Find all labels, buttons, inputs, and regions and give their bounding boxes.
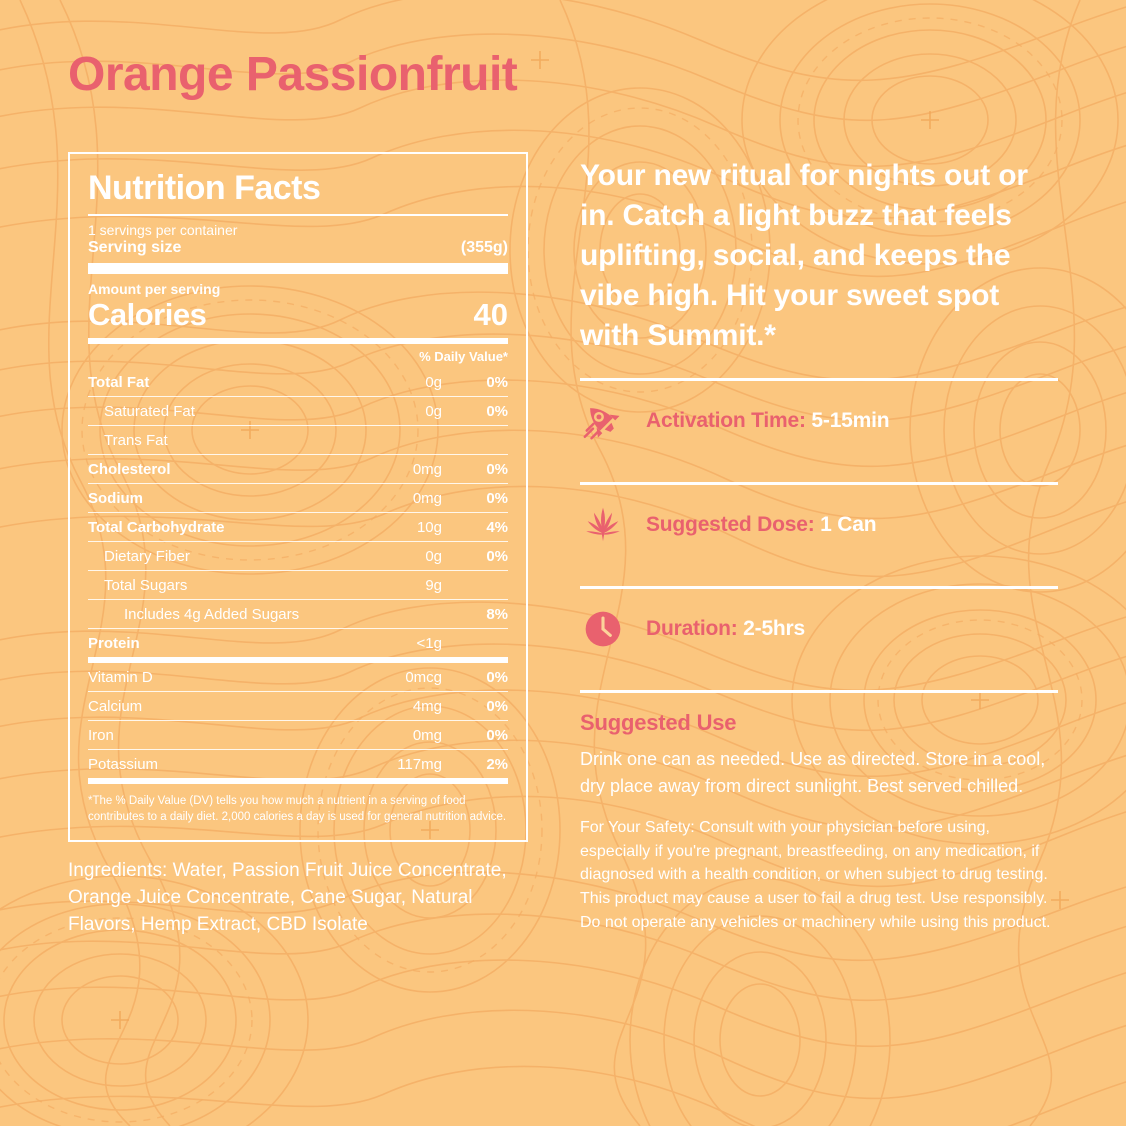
micronutrient-daily-value: 2% <box>462 756 508 773</box>
micronutrient-amount: 4mg <box>413 698 462 715</box>
nutrient-row: Total Fat0g0% <box>88 368 508 396</box>
divider <box>88 628 508 629</box>
serving-size-label: Serving size <box>88 239 461 257</box>
nutrition-facts-panel: Nutrition Facts 1 servings per container… <box>68 152 528 842</box>
clock-icon <box>580 606 626 652</box>
divider <box>88 396 508 397</box>
nutrient-daily-value: 0% <box>462 548 508 565</box>
nutrient-amount: 0mg <box>413 490 462 507</box>
page-title: Orange Passionfruit <box>68 50 1058 100</box>
micronutrient-row: Iron0mg0% <box>88 721 508 749</box>
serving-size-row: Serving size (355g) <box>88 238 508 263</box>
nutrient-name: Trans Fat <box>88 432 442 449</box>
fact-value: 1 Can <box>820 513 876 536</box>
nutrient-amount: 0g <box>425 403 462 420</box>
fact-label: Suggested Dose: <box>646 513 815 536</box>
nutrient-row: Protein<1g <box>88 629 508 657</box>
nutrient-amount: 10g <box>417 519 462 536</box>
nutrient-row: Cholesterol0mg0% <box>88 455 508 483</box>
micronutrient-row: Vitamin D0mcg0% <box>88 663 508 691</box>
divider <box>88 483 508 484</box>
content-columns: Nutrition Facts 1 servings per container… <box>68 152 1058 939</box>
divider <box>88 570 508 571</box>
micronutrient-row: Calcium4mg0% <box>88 692 508 720</box>
nutrient-amount: 0g <box>425 374 462 391</box>
micronutrient-daily-value: 0% <box>462 727 508 744</box>
left-column: Nutrition Facts 1 servings per container… <box>68 152 528 939</box>
daily-value-header: % Daily Value* <box>88 344 508 368</box>
nutrient-amount: 9g <box>425 577 462 594</box>
fact-label: Activation Time: <box>646 409 806 432</box>
safety-disclaimer: For Your Safety: Consult with your physi… <box>580 800 1058 934</box>
calories-row: Calories 40 <box>88 297 508 338</box>
micronutrient-name: Potassium <box>88 756 397 773</box>
nutrient-daily-value: 0% <box>462 461 508 478</box>
divider <box>88 512 508 513</box>
nutrient-row: Total Carbohydrate10g4% <box>88 513 508 541</box>
marketing-headline: Your new ritual for nights out or in. Ca… <box>580 156 1058 355</box>
micronutrient-name: Iron <box>88 727 413 744</box>
divider <box>88 720 508 721</box>
fact-text: Suggested Dose: 1 Can <box>646 513 876 537</box>
nutrition-facts-title: Nutrition Facts <box>88 170 508 213</box>
right-column: Your new ritual for nights out or in. Ca… <box>580 152 1058 934</box>
nutrient-name: Dietary Fiber <box>88 548 425 565</box>
suggested-use-title: Suggested Use <box>580 693 1058 746</box>
micronutrient-amount: 0mg <box>413 727 462 744</box>
fact-text: Activation Time: 5-15min <box>646 409 889 433</box>
divider <box>88 691 508 692</box>
micronutrient-daily-value: 0% <box>462 669 508 686</box>
micronutrient-amount: 117mg <box>397 756 462 773</box>
nutrient-amount: 0g <box>425 548 462 565</box>
nutrient-row: Includes 4g Added Sugars8% <box>88 600 508 628</box>
calories-value: 40 <box>474 297 508 333</box>
nutrient-row: Trans Fat <box>88 426 508 454</box>
nutrient-name: Saturated Fat <box>88 403 425 420</box>
nutrient-name: Total Carbohydrate <box>88 519 417 536</box>
daily-value-footnote: *The % Daily Value (DV) tells you how mu… <box>88 784 508 826</box>
rocket-icon <box>580 398 626 444</box>
divider-thick <box>88 263 508 274</box>
suggested-use-body: Drink one can as needed. Use as directed… <box>580 746 1058 800</box>
nutrient-name: Cholesterol <box>88 461 413 478</box>
nutrient-daily-value: 0% <box>462 403 508 420</box>
nutrient-amount: 0mg <box>413 461 462 478</box>
ingredients-text: Ingredients: Water, Passion Fruit Juice … <box>68 842 528 939</box>
nutrient-name: Total Fat <box>88 374 425 391</box>
fact-row-activation-time: Activation Time: 5-15min <box>580 381 1058 460</box>
nutrient-name: Includes 4g Added Sugars <box>88 606 442 623</box>
divider <box>88 749 508 750</box>
micronutrient-name: Vitamin D <box>88 669 405 686</box>
micronutrient-row: Potassium117mg2% <box>88 750 508 778</box>
micronutrient-rows: Vitamin D0mcg0%Calcium4mg0%Iron0mg0%Pota… <box>88 663 508 778</box>
amount-per-serving-label: Amount per serving <box>88 274 508 297</box>
fact-text: Duration: 2-5hrs <box>646 617 805 641</box>
nutrient-daily-value: 4% <box>462 519 508 536</box>
divider <box>88 599 508 600</box>
nutrient-row: Saturated Fat0g0% <box>88 397 508 425</box>
servings-per-container: 1 servings per container <box>88 216 508 238</box>
fact-row-suggested-dose: Suggested Dose: 1 Can <box>580 485 1058 564</box>
divider <box>88 454 508 455</box>
nutrient-daily-value: 0% <box>462 490 508 507</box>
micronutrient-daily-value: 0% <box>462 698 508 715</box>
cannabis-leaf-icon <box>580 502 626 548</box>
fact-value: 5-15min <box>811 409 889 432</box>
serving-size-value: (355g) <box>461 239 508 257</box>
micronutrient-name: Calcium <box>88 698 413 715</box>
fact-row-duration: Duration: 2-5hrs <box>580 589 1058 668</box>
nutrient-daily-value: 8% <box>462 606 508 623</box>
divider <box>88 425 508 426</box>
label-page: Orange Passionfruit Nutrition Facts 1 se… <box>0 0 1126 1126</box>
divider <box>88 541 508 542</box>
fact-value: 2-5hrs <box>743 617 805 640</box>
nutrient-amount: <1g <box>417 635 462 652</box>
nutrient-rows: Total Fat0g0%Saturated Fat0g0%Trans FatC… <box>88 368 508 657</box>
calories-label: Calories <box>88 297 474 333</box>
nutrient-daily-value: 0% <box>462 374 508 391</box>
nutrient-name: Protein <box>88 635 417 652</box>
nutrient-row: Dietary Fiber0g0% <box>88 542 508 570</box>
nutrient-row: Sodium0mg0% <box>88 484 508 512</box>
nutrient-name: Total Sugars <box>88 577 425 594</box>
micronutrient-amount: 0mcg <box>405 669 462 686</box>
fact-label: Duration: <box>646 617 738 640</box>
nutrient-row: Total Sugars9g <box>88 571 508 599</box>
nutrient-name: Sodium <box>88 490 413 507</box>
